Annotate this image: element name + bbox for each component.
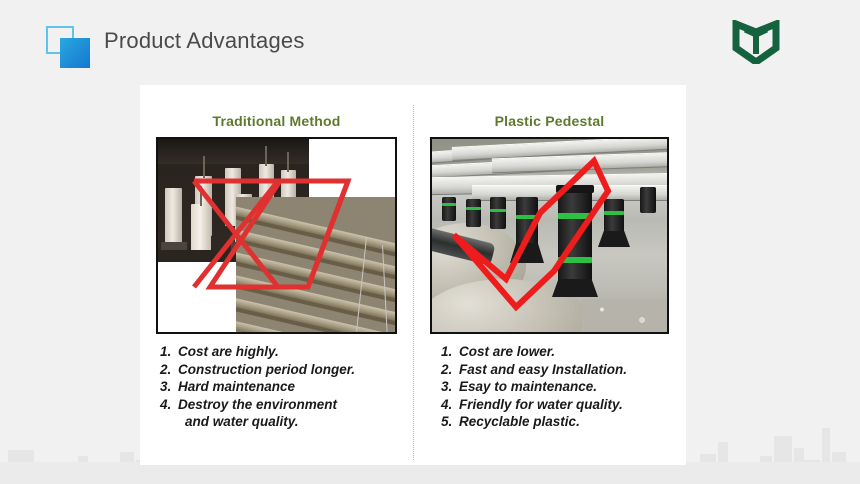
bullet-text: Fast and easy Installation. — [459, 361, 685, 379]
bullet-number: 2. — [160, 361, 178, 379]
bullet-number: 1. — [441, 343, 459, 361]
square-filled-icon — [60, 38, 90, 68]
bullet-number: 5. — [441, 413, 459, 431]
plastic-pedestal-photo — [430, 137, 669, 334]
list-item: 2. Fast and easy Installation. — [441, 361, 685, 379]
column-title-traditional: Traditional Method — [140, 113, 413, 129]
column-traditional: Traditional Method — [140, 85, 413, 465]
bullet-text: Friendly for water quality. — [459, 396, 685, 414]
list-item: 1. Cost are highly. — [160, 343, 410, 361]
column-title-plastic: Plastic Pedestal — [413, 113, 686, 129]
bullet-number: 2. — [441, 361, 459, 379]
header-squares-icon — [46, 26, 96, 70]
bullet-list-traditional: 1. Cost are highly. 2. Construction peri… — [160, 343, 410, 431]
bullet-text: Hard maintenance — [178, 378, 410, 396]
list-item: 4. Destroy the environment — [160, 396, 410, 414]
slide-header: Product Advantages — [0, 0, 860, 86]
photo-wooden-decking — [236, 197, 397, 334]
bullet-list-plastic: 1. Cost are lower. 2. Fast and easy Inst… — [441, 343, 685, 431]
slide-canvas: Product Advantages Traditional Method — [0, 0, 860, 484]
list-item: 1. Cost are lower. — [441, 343, 685, 361]
bullet-number: 3. — [441, 378, 459, 396]
list-item: 5. Recyclable plastic. — [441, 413, 685, 431]
list-item: 3. Esay to maintenance. — [441, 378, 685, 396]
list-item: 4. Friendly for water quality. — [441, 396, 685, 414]
bullet-text: Cost are lower. — [459, 343, 685, 361]
page-title: Product Advantages — [104, 28, 305, 54]
list-item: 2. Construction period longer. — [160, 361, 410, 379]
column-plastic: Plastic Pedestal — [413, 85, 686, 465]
bullet-text: Recyclable plastic. — [459, 413, 685, 431]
comparison-card: Traditional Method — [140, 85, 686, 465]
bullet-number: 1. — [160, 343, 178, 361]
list-item: 3. Hard maintenance — [160, 378, 410, 396]
bullet-text: Esay to maintenance. — [459, 378, 685, 396]
bullet-continuation: and water quality. — [160, 413, 410, 431]
bullet-number: 4. — [441, 396, 459, 414]
concrete-pedestal-photo — [156, 137, 397, 334]
shield-book-logo — [732, 20, 780, 64]
bullet-text: Construction period longer. — [178, 361, 410, 379]
bullet-text: Destroy the environment — [178, 396, 410, 414]
bullet-number: 3. — [160, 378, 178, 396]
bullet-number: 4. — [160, 396, 178, 414]
bottom-band — [0, 462, 860, 484]
bullet-text: Cost are highly. — [178, 343, 410, 361]
